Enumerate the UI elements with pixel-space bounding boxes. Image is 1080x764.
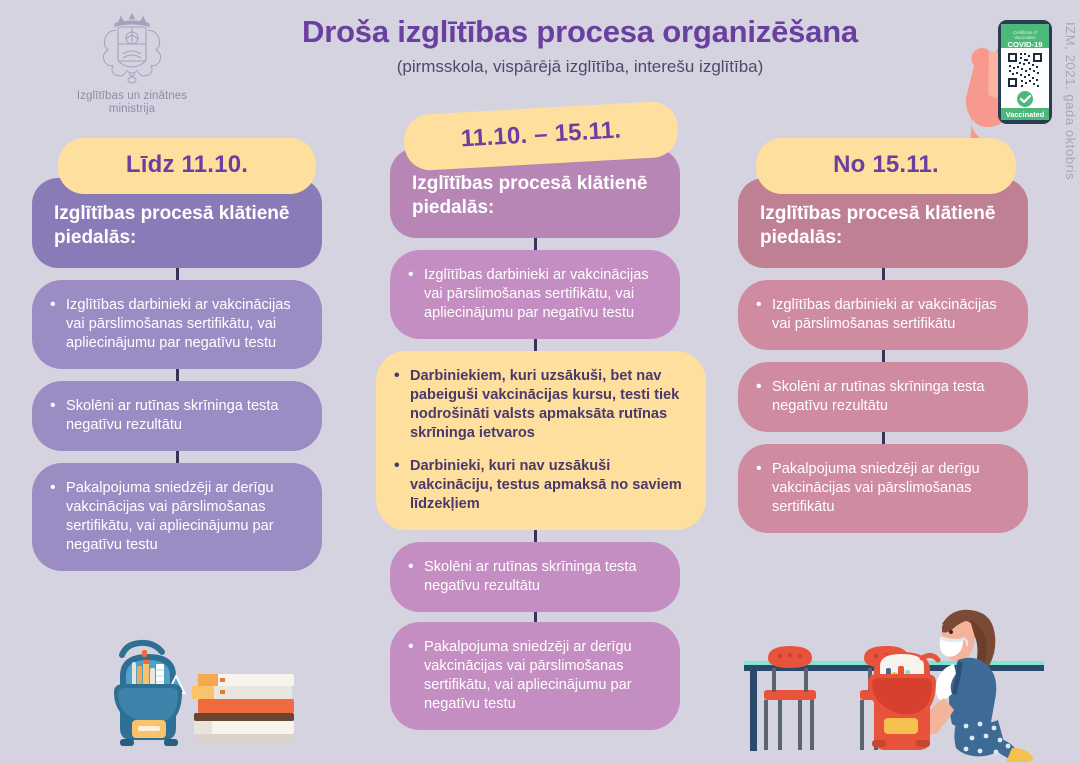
infographic-page: Izglītības un zinātnes ministrija Droša …: [0, 0, 1080, 764]
info-card: Izglītības darbinieki ar vakcinācijas va…: [32, 280, 322, 369]
ministry-branding: Izglītības un zinātnes ministrija: [62, 8, 202, 116]
info-card: Pakalpojuma sniedzēji ar derīgu vakcināc…: [738, 444, 1028, 533]
card-bullet: Darbiniekiem, kuri uzsākuši, bet nav pab…: [392, 367, 686, 443]
credit-label: IZM, 2021. gada oktobris: [1063, 22, 1078, 262]
connector-line: [176, 268, 179, 280]
timeline-column-1: Līdz 11.10. Izglītības procesā klātienē …: [32, 138, 322, 571]
hand-holding-phone-vaccination-certificate-illustration: Certificate of Vaccination COVID-19: [962, 0, 1072, 150]
connector-line: [534, 612, 537, 622]
info-card: Skolēni ar rutīnas skrīninga testa negat…: [32, 381, 322, 451]
info-card: Izglītības darbinieki ar vakcinācijas va…: [390, 250, 680, 339]
card-bullet: Pakalpojuma sniedzēji ar derīgu vakcināc…: [406, 638, 662, 714]
blue-backpack-with-books-illustration: [80, 636, 300, 762]
ministry-name-line2: ministrija: [62, 103, 202, 116]
ministry-name-line1: Izglītības un zinātnes: [62, 90, 202, 103]
card-bullet: Izglītības darbinieki ar vakcinācijas va…: [48, 296, 304, 353]
timeline-column-2: 11.10. – 15.11. Izglītības procesā klāti…: [390, 108, 680, 730]
connector-line: [176, 451, 179, 463]
girl-with-mask-packing-backpack-illustration: [744, 606, 1070, 764]
backpack-icon: [114, 643, 186, 746]
phone-icon: Certificate of Vaccination COVID-19: [998, 20, 1052, 124]
check-circle-icon: [1017, 91, 1033, 107]
connector-line: [534, 238, 537, 250]
card-bullet: Skolēni ar rutīnas skrīninga testa negat…: [48, 397, 304, 435]
card-bullet: Skolēni ar rutīnas skrīninga testa negat…: [754, 378, 1010, 416]
connector-line: [882, 432, 885, 444]
girl-with-mask-icon: [924, 610, 1033, 762]
timeline-column-3: No 15.11. Izglītības procesā klātienē pi…: [738, 138, 1028, 533]
page-subtitle: (pirmsskola, vispārējā izglītība, intere…: [230, 56, 930, 77]
card-bullet: Izglītības darbinieki ar vakcinācijas va…: [754, 296, 1010, 334]
connector-line: [882, 268, 885, 280]
card-bullet: Skolēni ar rutīnas skrīninga testa negat…: [406, 558, 662, 596]
card-bullet: Pakalpojuma sniedzēji ar derīgu vakcināc…: [754, 460, 1010, 517]
info-card: Pakalpojuma sniedzēji ar derīgu vakcināc…: [390, 622, 680, 730]
latvia-coat-of-arms-icon: [96, 8, 168, 88]
card-bullet: Pakalpojuma sniedzēji ar derīgu vakcināc…: [48, 479, 304, 555]
info-card: Izglītības darbinieki ar vakcinācijas va…: [738, 280, 1028, 350]
qr-code-icon: [1007, 52, 1043, 88]
page-title: Droša izglītības procesa organizēšana: [230, 14, 930, 50]
title-block: Droša izglītības procesa organizēšana (p…: [230, 14, 930, 77]
info-card: Pakalpojuma sniedzēji ar derīgu vakcināc…: [32, 463, 322, 571]
connector-line: [176, 369, 179, 381]
certificate-status-label: Vaccinated: [1006, 110, 1045, 119]
card-bullet: Izglītības darbinieki ar vakcinācijas va…: [406, 266, 662, 323]
connector-line: [534, 530, 537, 542]
info-card: Skolēni ar rutīnas skrīninga testa negat…: [738, 362, 1028, 432]
books-stack-icon: [192, 674, 294, 743]
connector-line: [882, 350, 885, 362]
connector-line: [534, 339, 537, 351]
card-bullet: Darbinieki, kuri nav uzsākuši vakcinācij…: [392, 457, 686, 514]
chair-icon: [764, 646, 816, 750]
info-card-highlight: Darbiniekiem, kuri uzsākuši, bet nav pab…: [376, 351, 706, 530]
info-card: Skolēni ar rutīnas skrīninga testa negat…: [390, 542, 680, 612]
certificate-covid-label: COVID-19: [1007, 40, 1042, 49]
date-pill-1: Līdz 11.10.: [58, 138, 316, 194]
date-pill-3: No 15.11.: [756, 138, 1016, 194]
red-backpack-icon: [868, 652, 938, 750]
